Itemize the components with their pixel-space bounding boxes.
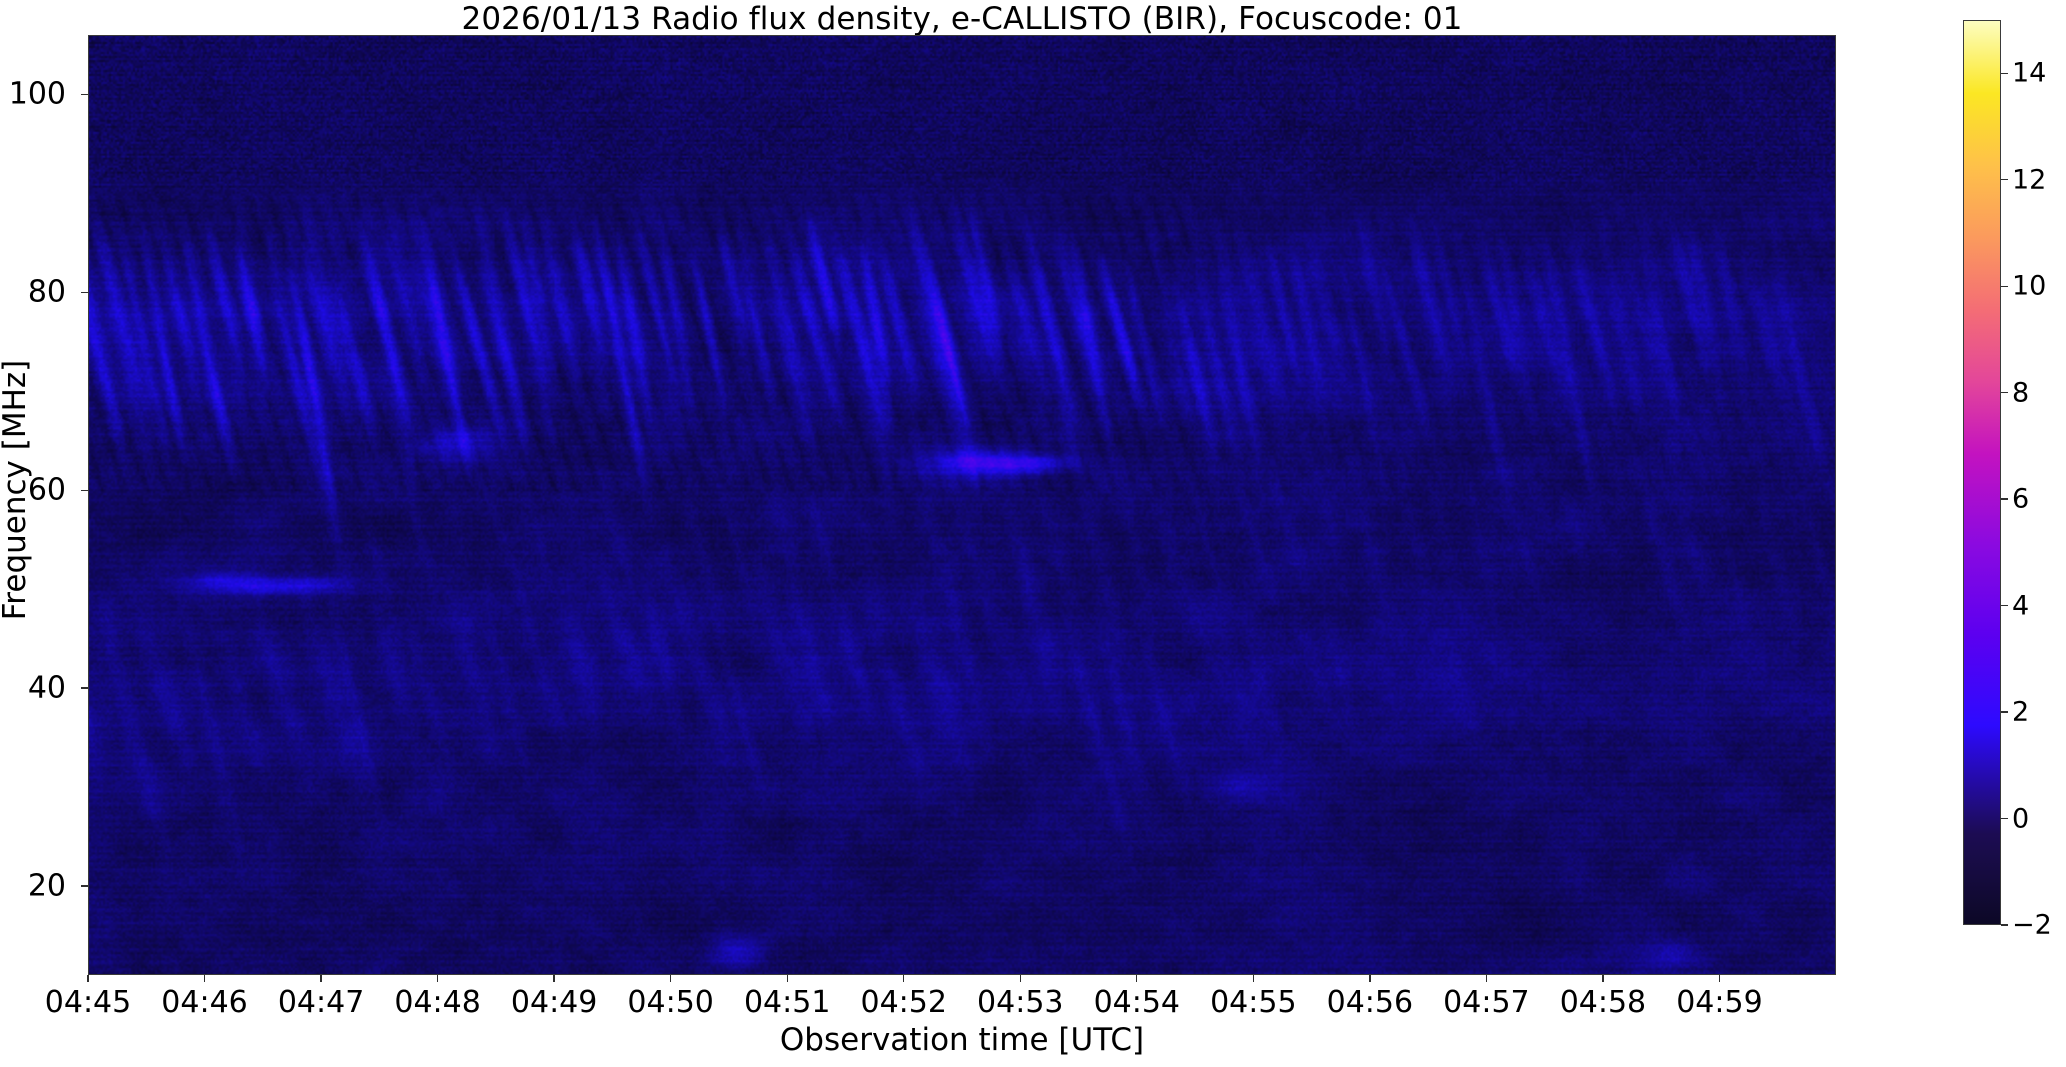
x-tick-label: 04:59 [1676,985,1762,1020]
x-tick-label: 04:53 [977,985,1063,1020]
chart-title: 2026/01/13 Radio flux density, e-CALLIST… [88,2,1836,36]
x-tick-label: 04:58 [1560,985,1646,1020]
x-tick-mark [1020,975,1021,982]
colorbar [1963,20,2001,925]
colorbar-tick-label: 8 [2012,377,2029,408]
colorbar-tick-label: 14 [2012,58,2046,89]
x-tick-label: 04:54 [1094,985,1180,1020]
colorbar-tick-mark [2001,818,2008,819]
x-axis-title: Observation time [UTC] [88,1020,1836,1060]
x-tick-label: 04:45 [45,985,131,1020]
x-tick-mark [204,975,205,982]
colorbar-tick-mark [2001,392,2008,393]
x-tick-mark [1486,975,1487,982]
colorbar-tick-label: 12 [2012,164,2046,195]
x-tick-label: 04:56 [1327,985,1413,1020]
y-tick-mark [81,490,88,491]
x-tick-mark [1253,975,1254,982]
y-tick-mark [81,885,88,886]
colorbar-title-holder: dB above background [2044,0,2066,1]
colorbar-tick-mark [2001,498,2008,499]
x-tick-mark [437,975,438,982]
y-axis-tick-marks [76,35,88,975]
colorbar-tick-mark [2001,179,2008,180]
x-tick-label: 04:51 [744,985,830,1020]
x-tick-label: 04:48 [394,985,480,1020]
colorbar-tick-label: −2 [2012,910,2052,941]
x-tick-label: 04:47 [278,985,364,1020]
x-tick-mark [320,975,321,982]
x-tick-label: 04:52 [860,985,946,1020]
colorbar-tick-mark [2001,73,2008,74]
colorbar-tick-mark [2001,286,2008,287]
colorbar-tick-label: 10 [2012,271,2046,302]
x-tick-mark [1136,975,1137,982]
colorbar-tick-mark [2001,711,2008,712]
y-tick-mark [81,292,88,293]
y-axis-title-holder: Frequency [MHz] [0,0,40,1]
spectrogram-image [89,36,1835,974]
x-tick-mark [1719,975,1720,982]
x-tick-mark [670,975,671,982]
x-tick-label: 04:50 [627,985,713,1020]
spectrogram-image-wrapper [89,36,1835,974]
x-tick-label: 04:55 [1210,985,1296,1020]
colorbar-tick-label: 2 [2012,697,2029,728]
colorbar-tick-label: 4 [2012,590,2029,621]
x-tick-mark [553,975,554,982]
y-tick-mark [81,94,88,95]
colorbar-tick-label: 6 [2012,484,2029,515]
spectrogram-axes [88,35,1836,975]
x-tick-label: 04:57 [1443,985,1529,1020]
x-tick-mark [1602,975,1603,982]
y-axis-title: Frequency [MHz] [0,20,35,960]
colorbar-tick-labels: −202468101214 [2012,20,2056,925]
colorbar-tick-mark [2001,924,2008,925]
x-tick-mark [787,975,788,982]
figure-canvas: 2026/01/13 Radio flux density, e-CALLIST… [0,0,2066,1067]
x-tick-mark [903,975,904,982]
x-tick-label: 04:46 [161,985,247,1020]
colorbar-tick-label: 0 [2012,803,2029,834]
colorbar-tick-mark [2001,605,2008,606]
y-tick-mark [81,687,88,688]
x-tick-mark [87,975,88,982]
x-axis-tick-labels: 04:4504:4604:4704:4804:4904:5004:5104:52… [88,985,1836,1025]
x-tick-label: 04:49 [511,985,597,1020]
x-tick-mark [1369,975,1370,982]
